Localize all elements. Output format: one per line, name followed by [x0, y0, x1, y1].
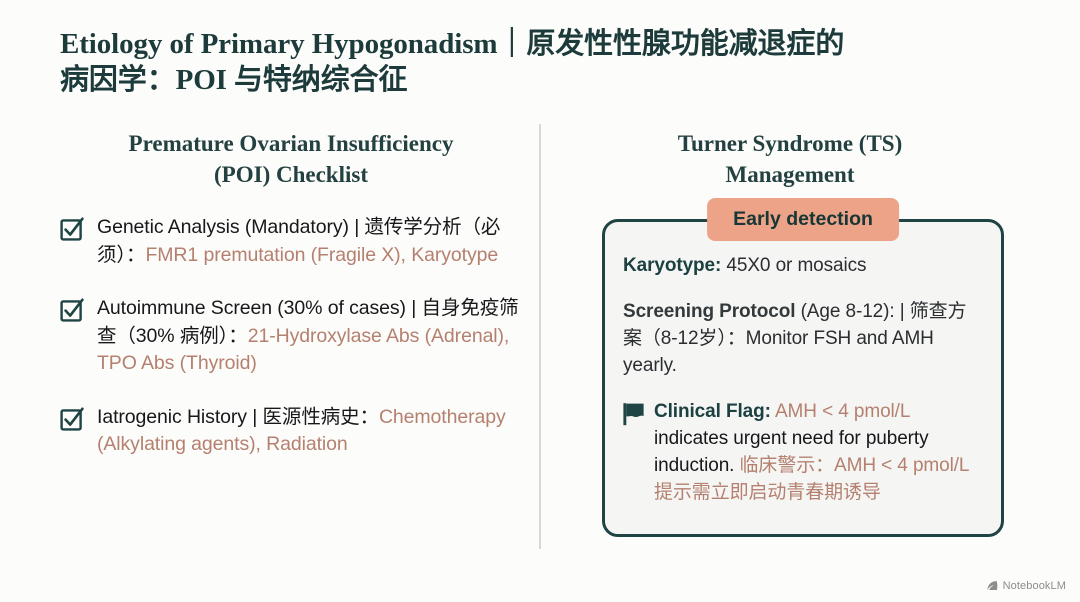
left-column-heading-line-2: (POI) Checklist	[60, 159, 522, 190]
notebooklm-logo-icon	[986, 579, 999, 592]
notebooklm-label: NotebookLM	[1003, 580, 1066, 592]
checkbox-checked-icon[interactable]	[60, 407, 84, 431]
left-column-heading: Premature Ovarian Insufficiency (POI) Ch…	[60, 128, 522, 190]
right-column-heading-line-2: Management	[560, 159, 1020, 190]
list-item[interactable]: Autoimmune Screen (30% of cases) | 自身免疫筛…	[60, 295, 522, 378]
checkbox-checked-icon[interactable]	[60, 217, 84, 241]
left-column: Premature Ovarian Insufficiency (POI) Ch…	[60, 128, 522, 459]
screening-protocol-label: Screening Protocol	[623, 301, 795, 322]
page-title-line-2: 病因学：POI 与特纳综合征	[60, 62, 990, 98]
clinical-flag-highlight: AMH < 4 pmol/L	[771, 401, 910, 422]
column-divider	[539, 124, 541, 549]
page-title-line-1: Etiology of Primary Hypogonadism｜原发性性腺功能…	[60, 26, 990, 62]
clinical-flag-text: Clinical Flag: AMH < 4 pmol/L indicates …	[654, 398, 983, 506]
karyotype-row: Karyotype: 45X0 or mosaics	[623, 252, 983, 279]
left-column-heading-line-1: Premature Ovarian Insufficiency	[60, 128, 522, 159]
list-item[interactable]: Iatrogenic History | 医源性病史：Chemotherapy …	[60, 404, 522, 459]
list-item[interactable]: Genetic Analysis (Mandatory) | 遗传学分析（必须）…	[60, 214, 522, 269]
page-title: Etiology of Primary Hypogonadism｜原发性性腺功能…	[60, 26, 990, 98]
list-item-text-highlight: FMR1 premutation (Fragile X), Karyotype	[145, 244, 498, 266]
status-badge: Early detection	[707, 198, 899, 241]
list-item-text-primary: Iatrogenic History | 医源性病史：	[97, 406, 379, 428]
right-column-heading: Turner Syndrome (TS) Management	[560, 128, 1020, 190]
karyotype-value: 45X0 or mosaics	[721, 255, 866, 276]
right-column: Turner Syndrome (TS) Management Early de…	[560, 128, 1020, 537]
flag-icon	[623, 402, 645, 426]
clinical-flag-row: Clinical Flag: AMH < 4 pmol/L indicates …	[623, 398, 983, 506]
notebooklm-watermark: NotebookLM	[986, 579, 1066, 592]
clinical-flag-label: Clinical Flag:	[654, 401, 771, 422]
screening-protocol-row: Screening Protocol (Age 8-12): | 筛查方案（8-…	[623, 298, 983, 379]
list-item-text: Autoimmune Screen (30% of cases) | 自身免疫筛…	[97, 295, 522, 378]
checkbox-checked-icon[interactable]	[60, 298, 84, 322]
right-column-heading-line-1: Turner Syndrome (TS)	[560, 128, 1020, 159]
list-item-text: Genetic Analysis (Mandatory) | 遗传学分析（必须）…	[97, 214, 522, 269]
karyotype-label: Karyotype:	[623, 255, 721, 276]
poi-checklist: Genetic Analysis (Mandatory) | 遗传学分析（必须）…	[60, 214, 522, 459]
list-item-text: Iatrogenic History | 医源性病史：Chemotherapy …	[97, 404, 522, 459]
turner-management-card-wrapper: Early detection Karyotype: 45X0 or mosai…	[602, 219, 1004, 537]
slide-root: Etiology of Primary Hypogonadism｜原发性性腺功能…	[0, 0, 1080, 602]
turner-management-card: Karyotype: 45X0 or mosaics Screening Pro…	[602, 219, 1004, 537]
